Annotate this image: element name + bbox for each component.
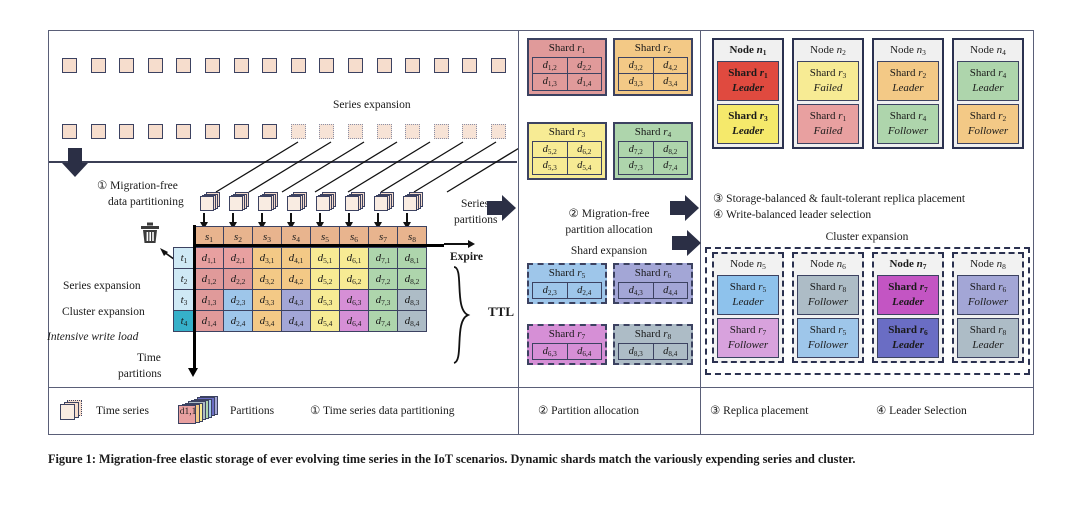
node-title: Node n2 — [797, 43, 859, 58]
time-series-square — [205, 58, 220, 73]
step2-label-line2: partition allocation — [523, 224, 695, 237]
grid-cell: d6,1 — [340, 248, 369, 269]
time-series-square — [291, 58, 306, 73]
grid-cell: d6,4 — [340, 311, 369, 332]
grid-cell: d4,4 — [282, 311, 311, 332]
time-partitions-label-1: Time — [137, 352, 161, 365]
shard-box: Shard r1d1,2d2,2d1,3d1,4 — [527, 38, 607, 96]
arrow-to-cluster-expansion — [672, 230, 702, 256]
row-label-intensive-write-load: Intensive write load — [47, 331, 138, 344]
grid-cell: d7,3 — [369, 290, 398, 311]
legend-label-partitions: Partitions — [230, 405, 274, 418]
shard-title: Shard r5 — [532, 267, 602, 282]
node-shard-slot: Shard r4Leader — [957, 61, 1019, 101]
grid-cell: d5,2 — [311, 269, 340, 290]
step3-label: ③ Storage-balanced & fault-tolerant repl… — [713, 193, 965, 206]
slot-role: Leader — [972, 82, 1003, 95]
partition-grid: s1s2s3s4s5s6s7s8t1d1,1d2,1d3,1d4,1d5,1d6… — [173, 226, 427, 332]
time-series-square — [434, 58, 449, 73]
slot-role: Follower — [968, 125, 1008, 138]
time-series-square — [176, 58, 191, 73]
shard-cell: d3,4 — [654, 74, 689, 91]
partition-stack-icon — [287, 192, 307, 211]
slot-shard-name: Shard r4 — [970, 67, 1006, 82]
grid-cell: d4,2 — [282, 269, 311, 290]
slot-role: Failed — [814, 125, 843, 138]
series-expansion-label: Series expansion — [333, 99, 411, 112]
shard-box: Shard r3d5,2d6,2d5,3d5,4 — [527, 122, 607, 180]
shard-cell: d3,3 — [618, 74, 654, 91]
shard-box-new: Shard r5d2,3d2,4 — [527, 263, 607, 304]
slot-role: Leader — [732, 82, 764, 95]
time-label: t3 — [174, 290, 195, 311]
grid-cell: d3,4 — [253, 311, 282, 332]
figure-caption: Figure 1: Migration-free elastic storage… — [48, 450, 1034, 468]
ttl-label: TTL — [488, 305, 514, 320]
time-series-square — [262, 58, 277, 73]
shard-title: Shard r6 — [618, 267, 688, 282]
shard-cell: d8,4 — [654, 343, 689, 360]
shard-cell: d2,3 — [532, 282, 568, 299]
grid-cell: d5,4 — [311, 311, 340, 332]
time-label: t4 — [174, 311, 195, 332]
grid-cell: d7,4 — [369, 311, 398, 332]
grid-row: t3d1,3d2,3d3,3d4,3d5,3d6,3d7,3d8,3 — [174, 290, 427, 311]
row-label-cluster-expansion: Cluster expansion — [62, 306, 145, 319]
shard-cell: d2,4 — [568, 282, 603, 299]
legend-label-step3: ③ Replica placement — [710, 405, 808, 418]
partition-down-arrow — [261, 213, 263, 223]
time-series-square — [405, 58, 420, 73]
legend-label-step4: ④ Leader Selection — [876, 405, 967, 418]
grid-cell: d8,2 — [398, 269, 427, 290]
partition-down-arrow — [348, 213, 350, 223]
time-axis-arrowhead — [188, 368, 198, 377]
partition-down-arrow — [232, 213, 234, 223]
time-axis — [193, 225, 196, 371]
shard-expansion-label: Shard expansion — [523, 245, 695, 258]
slot-shard-name: Shard r1 — [810, 110, 846, 125]
partition-down-arrow — [203, 213, 205, 223]
grid-cell: d5,3 — [311, 290, 340, 311]
grid-cell: d8,4 — [398, 311, 427, 332]
shard-box-new: Shard r6d4,3d4,4 — [613, 263, 693, 304]
slot-shard-name: Shard r2 — [890, 67, 926, 82]
shard-title: Shard r3 — [532, 126, 602, 141]
time-label: t2 — [174, 269, 195, 290]
shard-box: Shard r2d3,2d4,2d3,3d3,4 — [613, 38, 693, 96]
partition-down-arrow — [406, 213, 408, 223]
grid-cell: d4,3 — [282, 290, 311, 311]
partition-stack-icon — [258, 192, 278, 211]
shard-cell: d7,3 — [618, 158, 654, 175]
slot-role: Failed — [814, 82, 843, 95]
shard-cell: d1,4 — [568, 74, 603, 91]
shard-cell: d4,2 — [654, 57, 689, 74]
partition-down-arrow — [319, 213, 321, 223]
legend-label-time-series: Time series — [96, 405, 149, 418]
shard-box-new: Shard r7d6,3d6,4 — [527, 324, 607, 365]
slot-shard-name: Shard r3 — [728, 110, 768, 125]
partition-stack-icon — [200, 192, 220, 211]
arrow-to-panel3 — [670, 195, 700, 221]
time-series-square — [491, 58, 506, 73]
node-box: Node n1Shard r1LeaderShard r3Leader — [712, 38, 784, 149]
grid-row: t1d1,1d2,1d3,1d4,1d5,1d6,1d7,1d8,1 — [174, 248, 427, 269]
node-box: Node n2Shard r3FailedShard r1Failed — [792, 38, 864, 149]
grid-cell: d8,1 — [398, 248, 427, 269]
slot-role: Leader — [732, 125, 764, 138]
partition-down-arrow — [290, 213, 292, 223]
legend-label-step2: ② Partition allocation — [538, 405, 639, 418]
shard-cell: d6,2 — [568, 141, 603, 158]
partition-stack-icon — [374, 192, 394, 211]
grid-cell: d3,2 — [253, 269, 282, 290]
node-shard-slot: Shard r3Leader — [717, 104, 779, 144]
shard-cell: d3,2 — [618, 57, 654, 74]
partition-stack-icon — [229, 192, 249, 211]
slot-shard-name: Shard r3 — [810, 67, 846, 82]
series-to-partition-connectors — [48, 130, 518, 205]
partitions-stack-icon: d1,1 — [178, 396, 218, 428]
grid-cell: d2,3 — [224, 290, 253, 311]
node-shard-slot: Shard r4Follower — [877, 104, 939, 144]
trash-icon — [140, 222, 160, 244]
step4-label: ④ Write-balanced leader selection — [713, 209, 871, 222]
shard-cell: d8,2 — [654, 141, 689, 158]
grid-cell: d6,2 — [340, 269, 369, 290]
shard-title: Shard r7 — [532, 328, 602, 343]
cluster-expansion-outline — [705, 247, 1030, 375]
slot-role: Leader — [892, 82, 923, 95]
shard-cell: d7,2 — [618, 141, 654, 158]
shard-cell: d6,3 — [532, 343, 568, 360]
shard-cell: d4,4 — [654, 282, 689, 299]
shard-cell: d7,4 — [654, 158, 689, 175]
legend-divider — [49, 387, 1033, 388]
grid-cell: d6,3 — [340, 290, 369, 311]
series-axis — [194, 244, 444, 247]
slot-shard-name: Shard r2 — [970, 110, 1006, 125]
figure-page: Series expansion ① Migration-free data p… — [0, 0, 1080, 519]
slot-shard-name: Shard r4 — [890, 110, 926, 125]
grid-cell: d1,2 — [195, 269, 224, 290]
time-series-stack-icon — [60, 400, 86, 424]
grid-cell: d5,1 — [311, 248, 340, 269]
grid-cell: d2,4 — [224, 311, 253, 332]
grid-cell: d2,1 — [224, 248, 253, 269]
time-series-square — [234, 58, 249, 73]
shard-cell: d4,3 — [618, 282, 654, 299]
time-series-square — [62, 58, 77, 73]
shard-cell: d5,4 — [568, 158, 603, 175]
slot-role: Follower — [888, 125, 928, 138]
grid-cell: d1,3 — [195, 290, 224, 311]
grid-cell: d2,2 — [224, 269, 253, 290]
shard-cell: d8,3 — [618, 343, 654, 360]
grid-cell: d7,1 — [369, 248, 398, 269]
time-series-square — [348, 58, 363, 73]
partition-stack-icon — [316, 192, 336, 211]
time-partitions-label-2: partitions — [118, 368, 161, 381]
node-shard-slot: Shard r3Failed — [797, 61, 859, 101]
series-axis-arrowhead — [444, 243, 468, 245]
step1-down-arrow — [62, 148, 88, 178]
shard-title: Shard r2 — [618, 42, 688, 57]
partition-down-arrow — [377, 213, 379, 223]
shard-title: Shard r4 — [618, 126, 688, 141]
grid-cell: d1,4 — [195, 311, 224, 332]
time-series-square — [319, 58, 334, 73]
time-label: t1 — [174, 248, 195, 269]
partition-stack-icon — [345, 192, 365, 211]
partition-stack-icon — [403, 192, 423, 211]
grid-cell: d7,2 — [369, 269, 398, 290]
row-label-series-expansion: Series expansion — [63, 280, 141, 293]
shard-title: Shard r1 — [532, 42, 602, 57]
grid-row: t2d1,2d2,2d3,2d4,2d5,2d6,2d7,2d8,2 — [174, 269, 427, 290]
node-title: Node n4 — [957, 43, 1019, 58]
node-title: Node n1 — [717, 43, 779, 58]
time-series-square — [148, 58, 163, 73]
legend-partition-cell: d1,1 — [179, 407, 197, 417]
grid-cell: d4,1 — [282, 248, 311, 269]
node-shard-slot: Shard r1Leader — [717, 61, 779, 101]
node-box: Node n4Shard r4LeaderShard r2Follower — [952, 38, 1024, 149]
slot-shard-name: Shard r1 — [728, 67, 768, 82]
shard-title: Shard r8 — [618, 328, 688, 343]
step1-label-line2: data partitioning — [108, 196, 184, 209]
time-series-square — [119, 58, 134, 73]
grid-cell: d1,1 — [195, 248, 224, 269]
shard-cell: d1,3 — [532, 74, 568, 91]
legend: Time series d1,1 Partitions ① Time serie… — [48, 392, 1034, 434]
time-series-square — [377, 58, 392, 73]
shard-box: Shard r4d7,2d8,2d7,3d7,4 — [613, 122, 693, 180]
step1-label-line1: ① Migration-free — [97, 180, 178, 193]
panel-divider-1 — [518, 30, 519, 435]
ttl-brace — [448, 265, 484, 365]
node-shard-slot: Shard r2Leader — [877, 61, 939, 101]
time-series-square — [91, 58, 106, 73]
node-title: Node n3 — [877, 43, 939, 58]
shard-cell: d1,2 — [532, 57, 568, 74]
grid-row: t4d1,4d2,4d3,4d4,4d5,4d6,4d7,4d8,4 — [174, 311, 427, 332]
shard-cell: d5,3 — [532, 158, 568, 175]
expire-label: Expire — [450, 251, 483, 264]
grid-cell: d8,3 — [398, 290, 427, 311]
series-partitions-label-1: Series — [461, 198, 489, 211]
legend-label-step1: ① Time series data partitioning — [310, 405, 454, 418]
grid-cell: d3,1 — [253, 248, 282, 269]
shard-cell: d2,2 — [568, 57, 603, 74]
shard-cell: d6,4 — [568, 343, 603, 360]
shard-box-new: Shard r8d8,3d8,4 — [613, 324, 693, 365]
cluster-expansion-label: Cluster expansion — [704, 231, 1030, 244]
node-shard-slot: Shard r1Failed — [797, 104, 859, 144]
grid-cell: d3,3 — [253, 290, 282, 311]
node-box: Node n3Shard r2LeaderShard r4Follower — [872, 38, 944, 149]
node-shard-slot: Shard r2Follower — [957, 104, 1019, 144]
shard-cell: d5,2 — [532, 141, 568, 158]
time-series-square — [462, 58, 477, 73]
arrow-to-panel2 — [487, 195, 517, 221]
